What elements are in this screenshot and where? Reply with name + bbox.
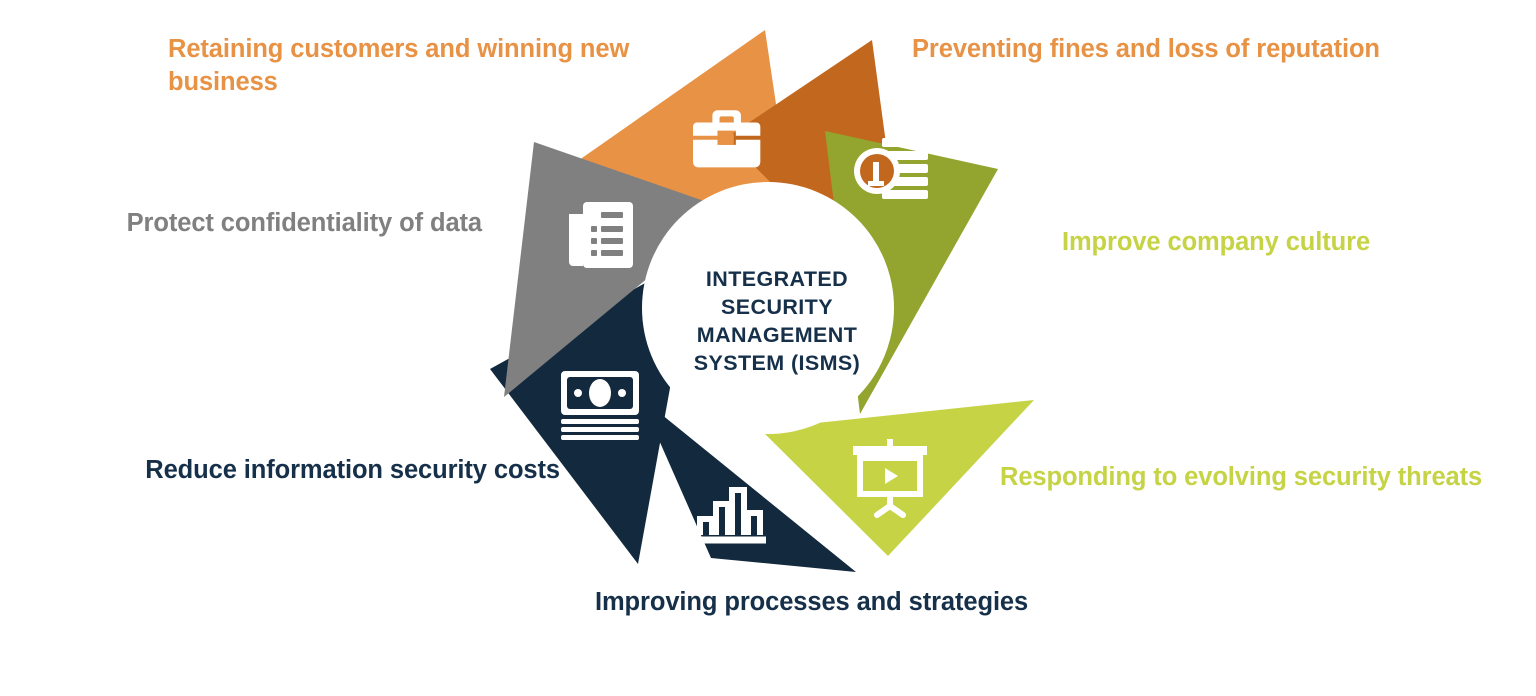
label-preventing-fines: Preventing fines and loss of reputation: [912, 33, 1472, 66]
label-responding-threats: Responding to evolving security threats: [1000, 461, 1500, 494]
banknote-icon: [561, 371, 639, 440]
label-improve-culture: Improve company culture: [1062, 226, 1462, 259]
label-reduce-costs: Reduce information security costs: [80, 454, 560, 487]
infographic-canvas: INTEGRATED SECURITY MANAGEMENT SYSTEM (I…: [0, 0, 1536, 696]
people-network-icon: [918, 280, 1008, 360]
segment-improve-culture[interactable]: [825, 131, 998, 414]
label-protect-confidentiality: Protect confidentiality of data: [72, 207, 482, 240]
label-retaining-customers: Retaining customers and winning new busi…: [168, 33, 638, 99]
label-improving-processes: Improving processes and strategies: [595, 586, 1095, 619]
